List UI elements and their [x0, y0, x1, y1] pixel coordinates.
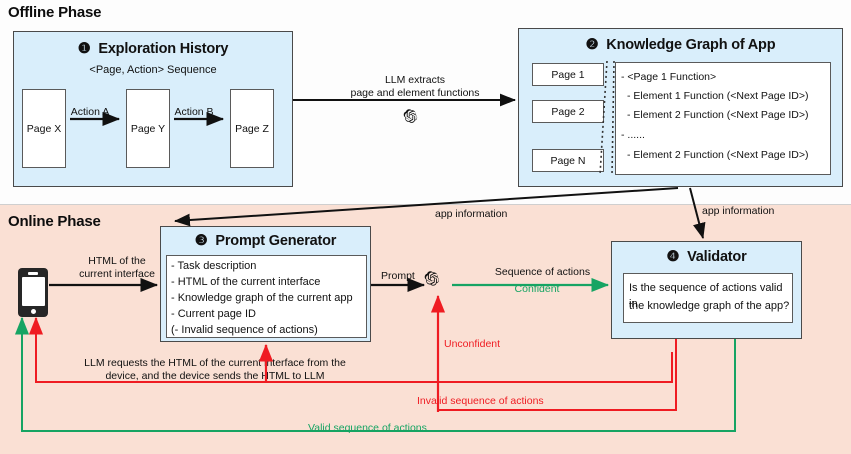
kg-page-n[interactable]: Page N [532, 149, 604, 172]
smartphone-icon [18, 268, 48, 317]
prompt-item-1: - Task description [171, 258, 256, 275]
label-llm-extracts-line2: page and element functions [320, 87, 510, 100]
kg-function-line-3: - Element 2 Function (<Next Page ID>) [627, 107, 809, 123]
kg-page-1[interactable]: Page 1 [532, 63, 604, 86]
validator-question-box[interactable]: Is the sequence of actions valid in the … [623, 273, 793, 323]
label-app-information-left: app information [435, 208, 507, 221]
knowledge-graph-panel[interactable]: ❷ Knowledge Graph of App Page 1 Page 2 P… [518, 28, 843, 187]
validator-panel[interactable]: ❹ Validator Is the sequence of actions v… [611, 241, 802, 339]
prompt-item-5: (- Invalid sequence of actions) [171, 322, 318, 339]
exploration-history-subtitle: <Page, Action> Sequence [14, 64, 292, 76]
offline-phase-title: Offline Phase [8, 4, 101, 21]
kg-page-2[interactable]: Page 2 [532, 100, 604, 123]
phone-home-button [31, 309, 36, 314]
label-sequence-of-actions: Sequence of actions [475, 266, 610, 279]
prompt-item-4: - Current page ID [171, 306, 256, 323]
kg-function-list-box[interactable]: - <Page 1 Function> - Element 1 Function… [615, 62, 831, 175]
knowledge-graph-title-text: Knowledge Graph of App [606, 37, 775, 53]
knowledge-graph-title: ❷ Knowledge Graph of App [519, 37, 842, 53]
prompt-item-2: - HTML of the current interface [171, 274, 320, 291]
label-html-of-line2: current interface [62, 268, 172, 281]
kg-function-line-1: - <Page 1 Function> [621, 69, 716, 85]
label-app-information-right: app information [702, 205, 774, 218]
label-llm-extracts-line1: LLM extracts [330, 74, 500, 87]
exploration-history-panel[interactable]: ❶ Exploration History <Page, Action> Seq… [13, 31, 293, 187]
label-valid-sequence: Valid sequence of actions [308, 422, 427, 435]
label-llm-requests-line1: LLM requests the HTML of the current int… [50, 357, 380, 370]
prompt-generator-title-text: Prompt Generator [215, 233, 336, 249]
label-invalid-sequence: Invalid sequence of actions [417, 395, 544, 408]
online-phase-title: Online Phase [8, 213, 101, 230]
validator-title-text: Validator [687, 249, 746, 265]
prompt-generator-panel[interactable]: ❸ Prompt Generator - Task description - … [160, 226, 371, 342]
edge-label-action-a: Action A [60, 106, 120, 119]
label-confident: Confident [482, 283, 592, 296]
knowledge-graph-number: ❷ [586, 37, 599, 53]
validator-title: ❹ Validator [612, 249, 801, 265]
prompt-generator-list-box[interactable]: - Task description - HTML of the current… [166, 255, 367, 338]
validator-question-line-2: the knowledge graph of the app? [629, 298, 789, 314]
prompt-generator-title: ❸ Prompt Generator [161, 233, 370, 249]
exploration-history-title-text: Exploration History [98, 41, 228, 57]
prompt-generator-number: ❸ [195, 233, 208, 249]
phone-speaker [28, 272, 38, 275]
diagram-canvas: Offline Phase Online Phase ❶ Exploration… [0, 0, 851, 454]
kg-function-line-4: - ...... [621, 127, 645, 143]
exploration-history-number: ❶ [78, 41, 91, 57]
label-unconfident: Unconfident [444, 338, 500, 351]
phone-screen [22, 277, 45, 306]
validator-number: ❹ [666, 249, 679, 265]
label-prompt: Prompt [381, 270, 415, 283]
label-llm-requests-line2: device, and the device sends the HTML to… [50, 370, 380, 383]
exploration-history-title: ❶ Exploration History [14, 41, 292, 57]
page-node-y[interactable]: Page Y [126, 89, 170, 168]
page-node-z[interactable]: Page Z [230, 89, 274, 168]
label-html-of-line1: HTML of the [62, 255, 172, 268]
kg-function-line-5: - Element 2 Function (<Next Page ID>) [627, 147, 809, 163]
page-node-x[interactable]: Page X [22, 89, 66, 168]
prompt-item-3: - Knowledge graph of the current app [171, 290, 353, 307]
kg-function-line-2: - Element 1 Function (<Next Page ID>) [627, 88, 809, 104]
edge-label-action-b: Action B [164, 106, 224, 119]
